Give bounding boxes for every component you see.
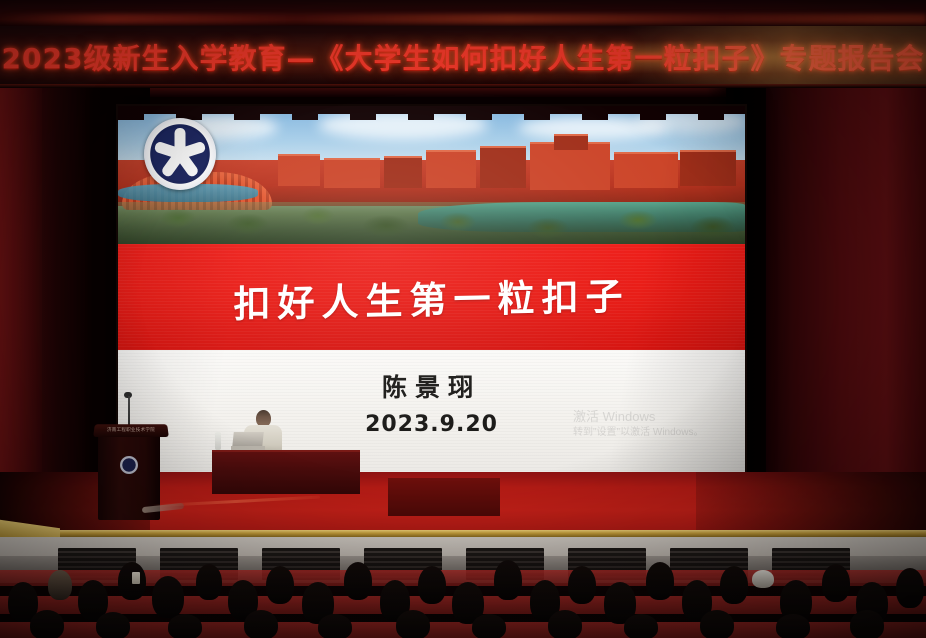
lecture-desk [212,450,360,494]
microphone-stand [128,396,130,428]
watermark-line-2: 转到"设置"以激活 Windows。 [573,426,723,440]
stage-curtain-left-fold [0,88,42,522]
slide-presenter-name: 陈景珝 [118,368,745,404]
projection-screen: 扣好人生第一粒扣子 陈景珝 2023.9.20 激活 Windows 转到"设置… [118,106,745,472]
laptop-screen [232,432,264,447]
stage-wall-panel [388,478,500,516]
campus-trees [118,202,745,244]
led-banner: 2023级新生入学教育—《大学生如何扣好人生第一粒扣子》专题报告会 [0,26,926,88]
ceiling-light-glow [0,14,926,24]
banner-title: 2023级新生入学教育—《大学生如何扣好人生第一粒扣子》专题报告会 [0,37,926,77]
watermark-line-1: 激活 Windows [573,408,723,426]
slide-title: 扣好人生第一粒扣子 [118,263,745,330]
podium-label: 济南工程职业技术学院 [96,427,166,433]
campus-photo [118,106,745,244]
podium-emblem-icon [120,456,138,474]
lecture-hall-photo: 2023级新生入学教育—《大学生如何扣好人生第一粒扣子》专题报告会 [0,0,926,638]
stage-gold-trim [0,530,926,537]
windows-activation-watermark: 激活 Windows 转到"设置"以激活 Windows。 [573,408,723,440]
audience-phone [132,572,140,584]
slide-red-band: 扣好人生第一粒扣子 [118,244,745,350]
university-emblem [144,118,216,190]
audience-area [0,556,926,638]
water-bottle [215,432,221,450]
